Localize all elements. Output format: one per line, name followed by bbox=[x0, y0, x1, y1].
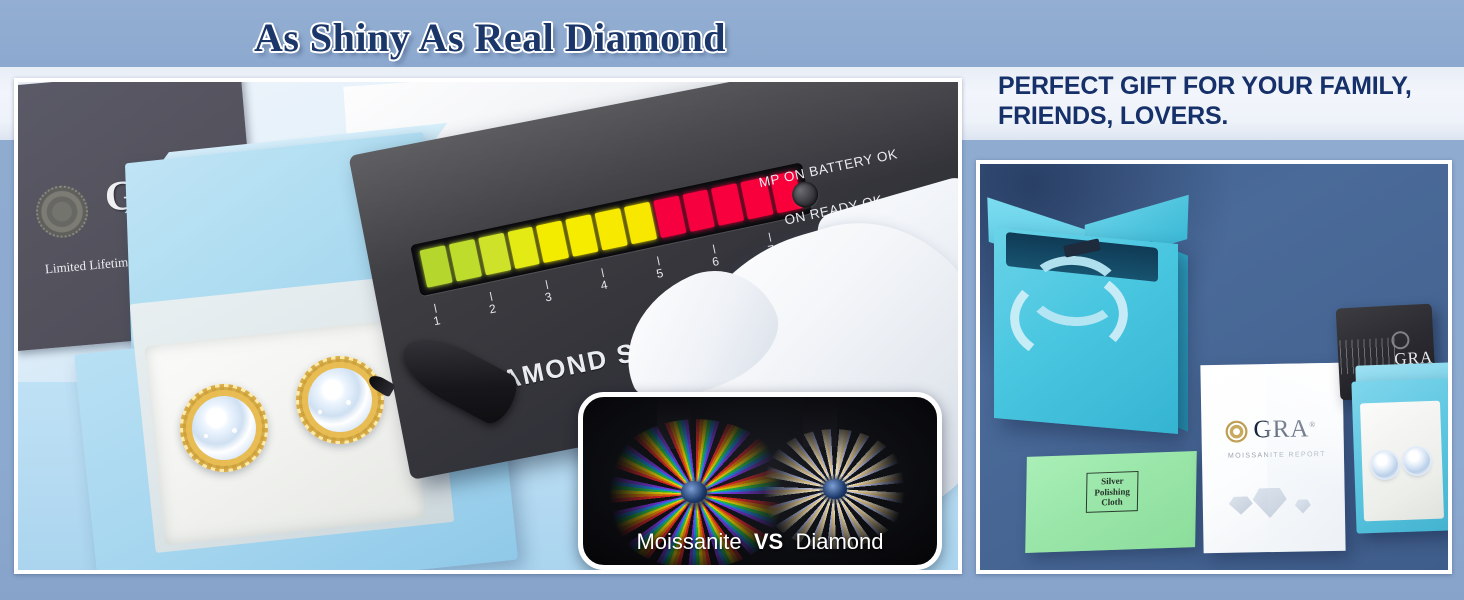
page-title: As Shiny As Real Diamond bbox=[0, 8, 980, 66]
stud-earring bbox=[1372, 452, 1398, 478]
led-segment-2 bbox=[449, 239, 482, 282]
inset-caption-vs: VS bbox=[754, 529, 783, 554]
stud-earring bbox=[192, 396, 256, 460]
right-photo: Silver Polishing Cloth GRA® MOISSANITE R… bbox=[980, 164, 1448, 570]
polishing-cloth-label: Silver Polishing Cloth bbox=[1086, 471, 1139, 513]
led-segment-3 bbox=[478, 233, 511, 276]
silver-polishing-cloth-envelope: Silver Polishing Cloth bbox=[1025, 451, 1197, 553]
headline-line-2: FRIENDS, LOVERS. bbox=[998, 102, 1450, 132]
led-segment-5 bbox=[536, 220, 569, 263]
moissanite-stone bbox=[681, 481, 707, 503]
sparkle bbox=[328, 384, 335, 391]
diamond-stone bbox=[823, 479, 847, 499]
led-segment-11 bbox=[711, 183, 744, 226]
scale-tick-label: 1 bbox=[432, 313, 441, 328]
led-segment-10 bbox=[682, 189, 715, 232]
stud-earring bbox=[1404, 448, 1430, 474]
scale-tick-label: 5 bbox=[655, 266, 664, 281]
inset-caption: Moissanite VS Diamond bbox=[583, 529, 937, 555]
right-photo-frame: Silver Polishing Cloth GRA® MOISSANITE R… bbox=[976, 160, 1452, 574]
gra-seal-icon bbox=[34, 184, 90, 240]
sparkle bbox=[346, 400, 351, 405]
scale-tick-label: 4 bbox=[599, 278, 608, 293]
headline-line-1: PERFECT GIFT FOR YOUR FAMILY, bbox=[998, 72, 1450, 102]
sparkle bbox=[232, 428, 237, 433]
gra-logo-icon bbox=[1391, 331, 1410, 350]
certificate-sheen bbox=[1266, 363, 1346, 552]
sparkle bbox=[318, 410, 322, 414]
sparkle bbox=[204, 434, 208, 438]
led-segment-1 bbox=[419, 245, 452, 288]
sparkle bbox=[214, 412, 221, 419]
scale-tick-1: 1 bbox=[434, 304, 437, 313]
led-segment-4 bbox=[507, 227, 540, 270]
polishing-cloth-line-2: Polishing bbox=[1091, 486, 1133, 498]
led-segment-8 bbox=[624, 202, 657, 245]
scale-tick-3: 3 bbox=[545, 280, 548, 289]
gra-seal-icon bbox=[1225, 420, 1247, 442]
led-segment-6 bbox=[565, 214, 598, 257]
inset-caption-left: Moissanite bbox=[636, 529, 741, 554]
left-photo-frame: MOISSANITE GRA Cre Limited Lifetime Wa R… bbox=[14, 78, 962, 574]
inset-caption-right: Diamond bbox=[795, 529, 883, 554]
led-segment-7 bbox=[595, 208, 628, 251]
stud-earring bbox=[308, 368, 372, 432]
scale-tick-6: 6 bbox=[713, 245, 716, 254]
moissanite-vs-diamond-inset: Moissanite VS Diamond bbox=[578, 392, 942, 570]
led-segment-9 bbox=[653, 196, 686, 239]
polishing-cloth-line-3: Cloth bbox=[1091, 496, 1133, 508]
certificate-gem-illustration bbox=[1229, 496, 1253, 514]
left-photo: MOISSANITE GRA Cre Limited Lifetime Wa R… bbox=[18, 82, 958, 570]
scale-tick-7: 7 bbox=[768, 233, 771, 242]
scale-tick-5: 5 bbox=[657, 256, 660, 265]
gra-certificate: GRA® MOISSANITE REPORT bbox=[1200, 363, 1345, 553]
scale-tick-label: 6 bbox=[711, 254, 720, 269]
scale-tick-label: 2 bbox=[488, 301, 497, 316]
scale-tick-label: 3 bbox=[544, 289, 553, 304]
headline: PERFECT GIFT FOR YOUR FAMILY, FRIENDS, L… bbox=[998, 72, 1450, 131]
scale-tick-4: 4 bbox=[601, 268, 604, 277]
scale-tick-2: 2 bbox=[490, 292, 493, 301]
